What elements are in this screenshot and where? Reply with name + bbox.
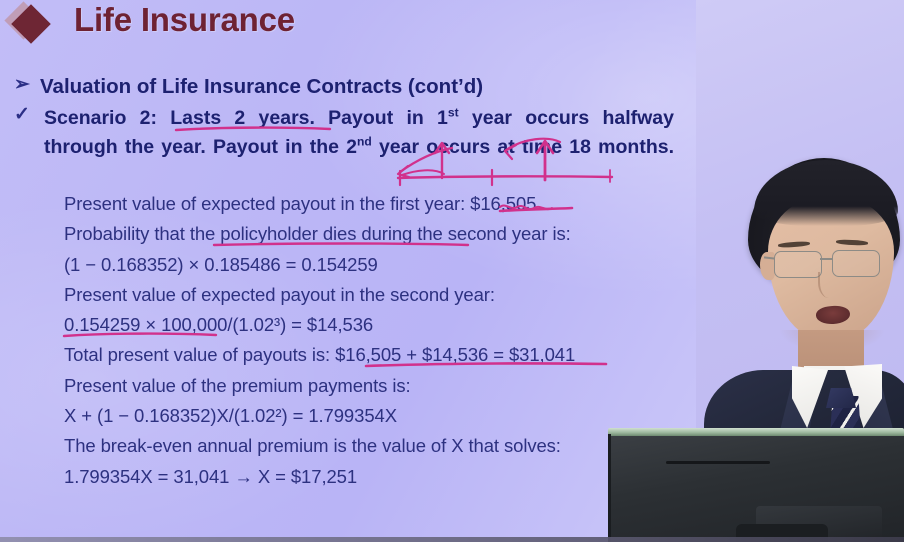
body-line: 0.154259 × 100,000/(1.02³) = $14,536 — [64, 310, 664, 340]
necktie-knot — [826, 388, 856, 408]
bullet-item-scenario: ✓ Scenario 2: Lasts 2 years. Payout in 1… — [14, 104, 674, 190]
body-line: The break-even annual premium is the val… — [64, 431, 664, 461]
monitor-top-edge — [608, 428, 904, 436]
monitor-side-edge — [608, 434, 611, 542]
slide-screenshot: Life Insurance ➢ Valuation of Life Insur… — [0, 0, 904, 542]
lens-left — [774, 251, 822, 278]
arrowhead-bullet-icon: ➢ — [14, 74, 40, 96]
bottom-edge-strip — [0, 537, 904, 542]
checkmark-bullet-icon: ✓ — [14, 104, 40, 126]
ordinal-suffix-second: nd — [357, 134, 372, 148]
scenario-text: Scenario 2: Lasts 2 years. Payout in 1st… — [40, 104, 674, 190]
body-line: 1.799354X = 31,041 → X = $17,251 — [64, 462, 664, 492]
glasses-temple — [764, 256, 775, 259]
scenario-underlined-phrase: Lasts 2 years. — [170, 107, 315, 129]
glasses-bridge — [820, 258, 833, 260]
nose — [818, 272, 836, 298]
body-line: Total present value of payouts is: $16,5… — [64, 340, 664, 370]
scenario-rest-c: year occurs at time 18 months. — [372, 136, 674, 158]
computer-monitor-rear — [608, 428, 904, 542]
scenario-lead: Scenario 2: — [44, 107, 170, 129]
body-line: (1 − 0.168352) × 0.185486 = 0.154259 — [64, 250, 664, 280]
body-line: Present value of expected payout in the … — [64, 280, 664, 310]
body-line: Present value of the premium payments is… — [64, 371, 664, 401]
ordinal-suffix-first: st — [448, 106, 459, 120]
diamond-icon — [10, 7, 50, 47]
monitor-vent-slot — [666, 461, 770, 464]
body-line: X + (1 − 0.168352)X/(1.02²) = 1.799354X — [64, 401, 664, 431]
body-line: Present value of expected payout in the … — [64, 189, 664, 219]
bullet-item-label: Valuation of Life Insurance Contracts (c… — [40, 74, 483, 100]
body-text-block: Present value of expected payout in the … — [64, 189, 664, 492]
body-line: Probability that the policyholder dies d… — [64, 219, 664, 249]
bullet-item-valuation: ➢ Valuation of Life Insurance Contracts … — [14, 74, 694, 100]
scenario-rest-a: Payout in 1 — [315, 107, 448, 129]
page-title: Life Insurance — [74, 1, 295, 39]
lens-right — [832, 250, 880, 277]
